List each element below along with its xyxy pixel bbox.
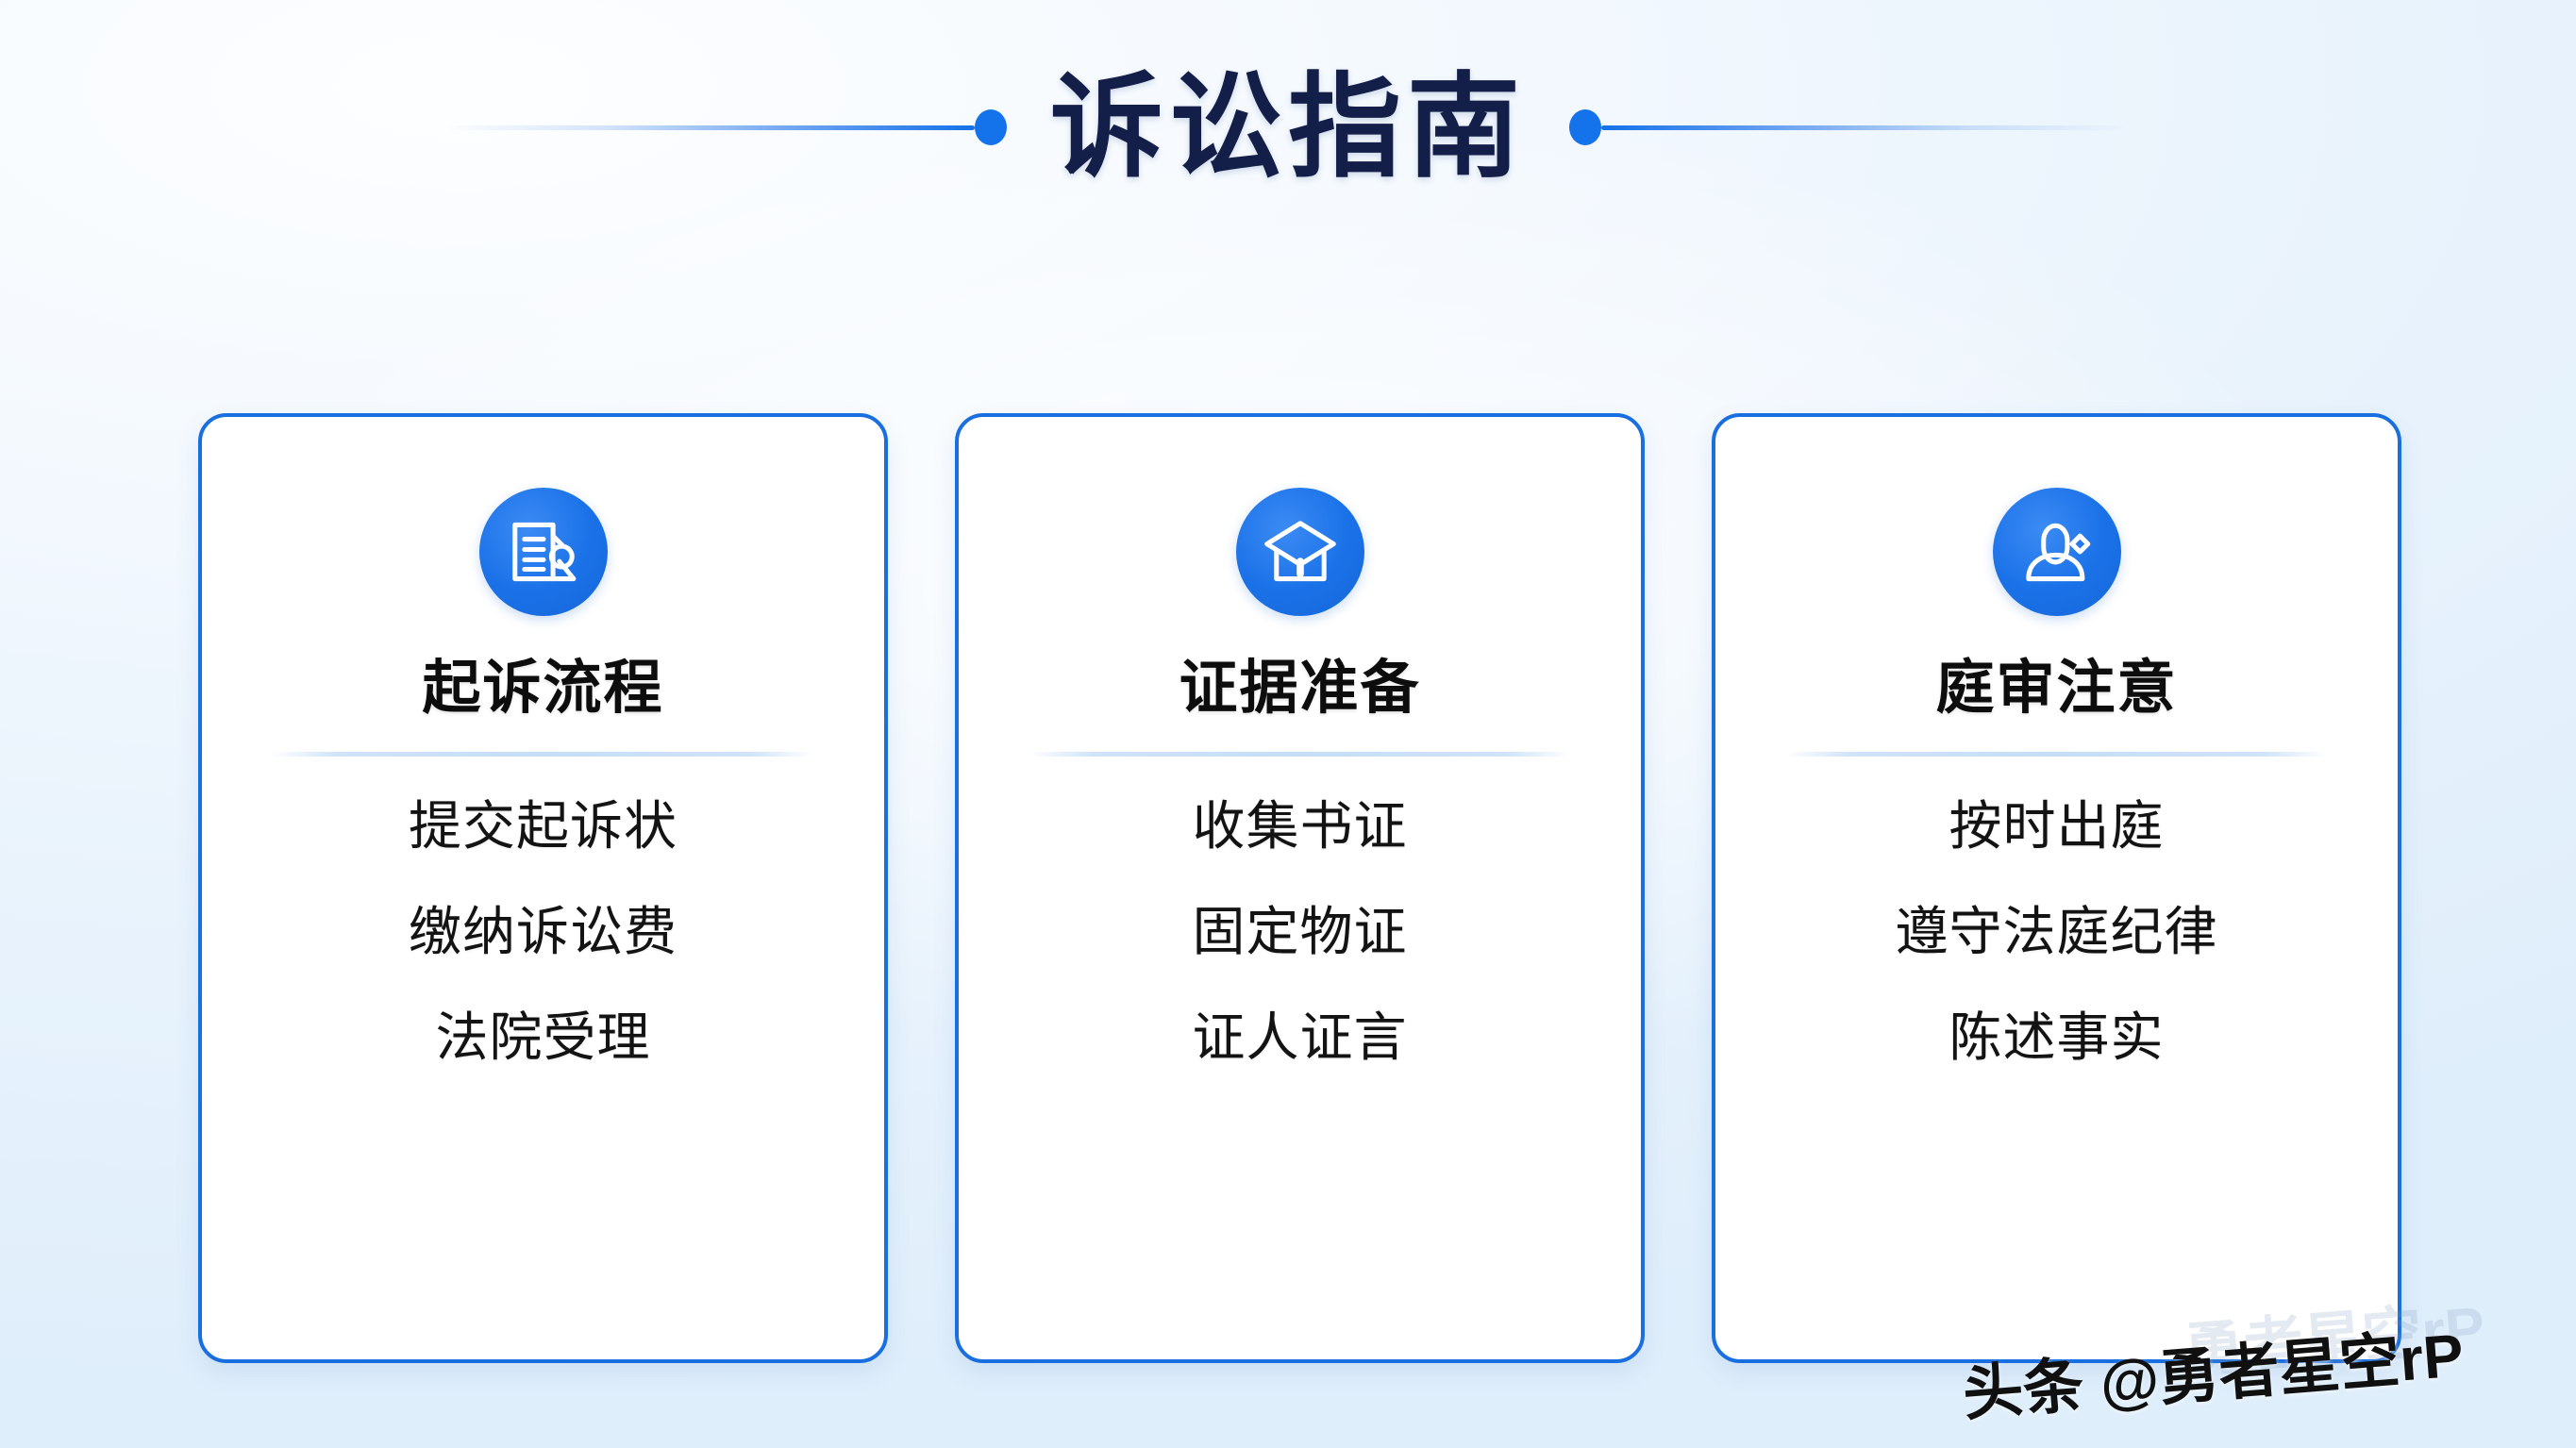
title-rule-left	[445, 123, 1007, 132]
card-court-notice[interactable]: 庭审注意 按时出庭 遵守法庭纪律 陈述事实	[1712, 413, 2401, 1363]
title-rule-right-bar	[1601, 125, 2130, 130]
title-dot-left	[975, 109, 1007, 145]
list-item: 提交起诉状	[409, 800, 677, 853]
list-item: 缴纳诉讼费	[409, 906, 677, 958]
title-rule-right	[1569, 123, 2131, 132]
card-list: 提交起诉状 缴纳诉讼费 法院受理	[202, 800, 884, 1064]
person-badge-icon	[1993, 488, 2121, 616]
page-title: 诉讼指南	[1007, 71, 1569, 184]
list-item: 证人证言	[1193, 1011, 1408, 1064]
card-title: 证据准备	[1179, 659, 1420, 718]
title-dot-right	[1569, 109, 1601, 145]
list-item: 按时出庭	[1949, 800, 2165, 853]
card-list: 按时出庭 遵守法庭纪律 陈述事实	[1715, 800, 2398, 1064]
list-item: 遵守法庭纪律	[1896, 906, 2218, 958]
list-item: 法院受理	[436, 1011, 651, 1064]
page-header: 诉讼指南	[0, 52, 2576, 203]
card-title: 庭审注意	[1935, 659, 2177, 718]
list-item: 收集书证	[1193, 800, 1408, 853]
list-item: 固定物证	[1193, 906, 1408, 958]
card-list: 收集书证 固定物证 证人证言	[959, 800, 1641, 1064]
card-grid: 起诉流程 提交起诉状 缴纳诉讼费 法院受理 证据准备 收集书证 固定物证 证人证…	[198, 413, 2401, 1363]
document-search-icon	[479, 488, 608, 616]
graduation-cap-icon	[1236, 488, 1364, 616]
card-evidence-preparation[interactable]: 证据准备 收集书证 固定物证 证人证言	[955, 413, 1645, 1363]
card-divider	[1029, 752, 1570, 757]
title-rule-left-bar	[446, 125, 975, 130]
card-title: 起诉流程	[422, 659, 663, 718]
card-lawsuit-process[interactable]: 起诉流程 提交起诉状 缴纳诉讼费 法院受理	[198, 413, 888, 1363]
card-divider	[273, 752, 813, 757]
list-item: 陈述事实	[1949, 1011, 2165, 1064]
card-divider	[1786, 752, 2327, 757]
